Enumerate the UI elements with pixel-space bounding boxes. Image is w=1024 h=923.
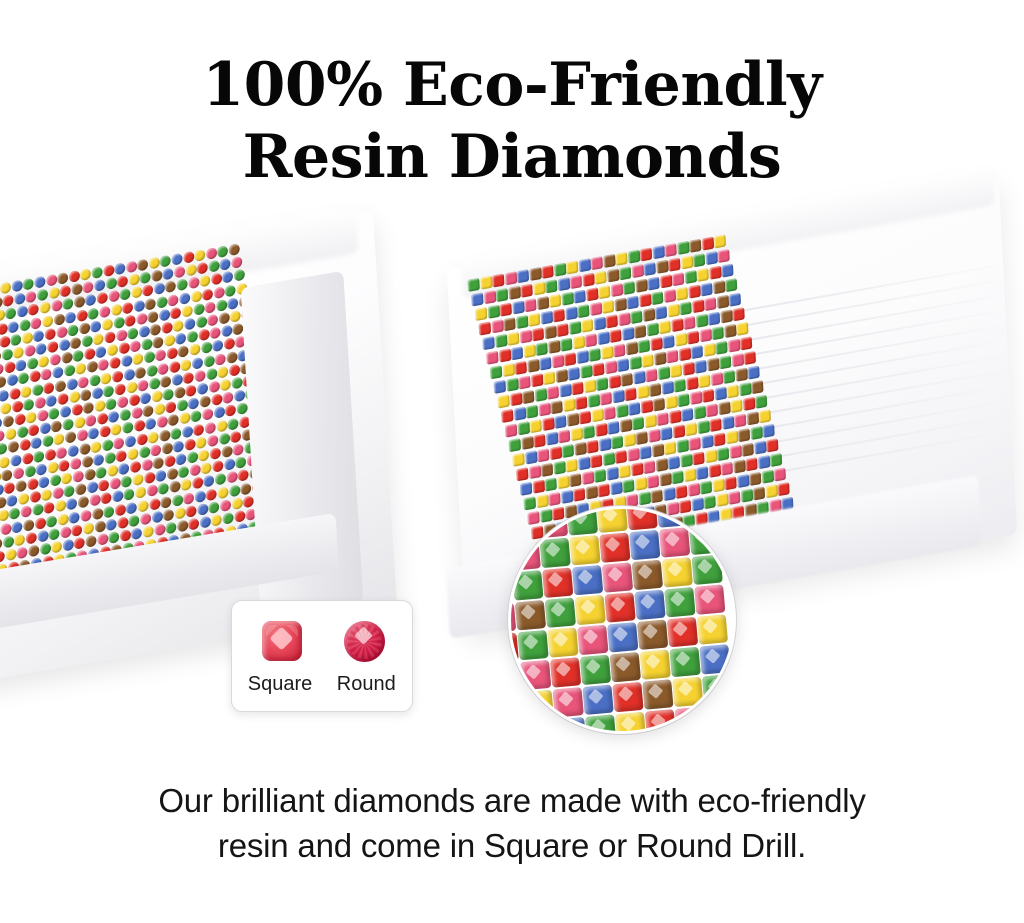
drill-bead [596,377,608,391]
drill-bead [187,331,198,344]
drill-bead [128,394,139,407]
drill-bead [721,462,733,476]
drill-bead [99,426,110,439]
drill-bead [88,427,99,440]
drill-bead [705,704,736,734]
drill-bead [529,267,541,281]
drill-bead [211,273,222,286]
drill-bead [528,465,540,479]
drill-bead [163,388,174,401]
drill-bead [543,371,555,385]
drill-bead [664,441,676,455]
drill-bead [538,402,550,416]
drill-bead [132,473,143,486]
drill-bead [217,486,228,499]
drill-bead [170,427,181,440]
drill-bead [234,510,245,523]
drill-bead [517,630,548,660]
drill-bead [659,527,690,557]
drill-bead [128,514,139,527]
drill-bead [661,381,673,395]
drill-bead [169,481,180,494]
drill-bead [695,314,707,328]
drill-bead [631,264,643,278]
drill-bead [125,435,136,448]
drill-bead [591,408,603,422]
drill-bead [93,333,104,346]
drill-bead [159,308,170,321]
drill-bead [37,409,48,422]
drill-bead [517,421,529,435]
drill-bead [505,423,517,437]
drill-bead [17,426,28,439]
drill-bead [631,462,643,476]
drill-bead [643,460,655,474]
drill-bead [184,318,195,331]
drill-bead [635,279,647,293]
drill-bead [667,303,679,317]
drill-bead [1,469,12,482]
drill-bead [567,367,579,381]
drill-bead [158,362,169,375]
drill-bead [240,482,251,495]
drill-bead [104,331,115,344]
drill-bead [595,423,607,437]
drill-bead [197,382,208,395]
drill-bead [696,466,708,480]
drill-bead [177,279,188,292]
drill-bead [124,314,135,327]
drill-bead [539,538,570,568]
drill-bead [737,474,749,488]
drill-bead [46,394,57,407]
drill-bead [89,494,100,507]
drill-bead [754,441,766,455]
drill-bead [673,379,685,393]
drill-bead [611,435,623,449]
drill-bead [609,329,621,343]
drill-bead [759,409,771,423]
drill-bead [516,467,528,481]
drill-bead [564,352,576,366]
drill-bead [16,306,27,319]
drill-bead [627,250,639,264]
drill-bead [520,482,532,496]
drill-bead [746,411,758,425]
drill-bead [108,411,119,424]
drill-bead [720,309,732,323]
drill-bead [184,438,195,451]
drill-bead [669,410,681,424]
drill-bead [79,442,90,455]
drill-bead [586,440,598,454]
drill-bead [533,281,545,295]
drill-bead [585,485,597,499]
drill-bead [17,546,28,559]
drill-bead [666,349,678,363]
drill-bead [770,453,782,467]
drill-bead [682,362,694,376]
drill-bead [613,343,625,357]
drill-bead [724,324,736,338]
drill-bead [594,469,606,483]
drill-bead [75,363,86,376]
drill-bead [692,555,723,585]
drill-bead [168,294,179,307]
drill-bead [713,432,725,446]
drill-bead [649,383,661,397]
drill-bead [135,486,146,499]
drill-bead [0,335,10,348]
drill-bead [238,469,249,482]
drill-bead [160,496,171,509]
drill-bead [214,406,225,419]
drill-bead [231,256,242,269]
drill-bead [5,307,16,320]
drill-bead [665,395,677,409]
drill-bead [121,475,132,488]
drill-bead [147,310,158,323]
drill-bead [578,456,590,470]
drill-bead [132,353,143,366]
drill-bead [570,427,582,441]
drill-bead [29,370,40,383]
drill-bead [604,592,635,622]
drill-bead [67,324,78,337]
drill-bead [131,527,142,540]
drill-bead [585,333,597,347]
drill-bead [691,345,703,359]
drill-bead [30,317,41,330]
drill-bead [11,400,22,413]
drill-bead [212,340,223,353]
drill-bead [567,506,598,536]
drill-bead [642,679,673,709]
drill-bead [227,297,238,310]
drill-bead [27,357,38,370]
drill-bead [84,348,95,361]
drill-bead [728,339,740,353]
drill-bead [0,550,5,563]
drill-bead [166,347,177,360]
drill-bead [81,455,92,468]
drill-bead [570,275,582,289]
drill-bead [519,330,531,344]
drill-bead [211,393,222,406]
drill-bead [663,487,675,501]
drill-bead [25,411,36,424]
drill-bead [231,497,242,510]
drill-bead [597,506,628,533]
drill-bead [0,509,9,522]
drill-bead [118,462,129,475]
drill-bead [138,325,149,338]
drill-bead [108,290,119,303]
drill-bead [53,313,64,326]
drill-bead [751,380,763,394]
drill-bead [15,359,26,372]
drill-bead [512,570,543,600]
drill-bead [566,413,578,427]
drill-bead [668,258,680,272]
drill-bead [714,387,726,401]
drill-bead [0,389,9,402]
drill-bead [660,274,672,288]
drill-bead [14,533,25,546]
drill-bead [622,479,634,493]
drill-bead [572,335,584,349]
drill-bead [645,368,657,382]
drill-bead [658,320,670,334]
drill-bead [491,319,503,333]
drill-bead [136,433,147,446]
drill-bead [551,354,563,368]
drill-bead [714,234,726,248]
drill-bead [225,284,236,297]
drill-bead [219,432,230,445]
drill-bead [114,262,125,275]
drill-bead [627,448,639,462]
drill-bead [676,439,688,453]
drill-bead [58,339,69,352]
drill-bead [486,351,498,365]
drill-bead [33,330,44,343]
drill-bead [137,259,148,272]
drill-bead [556,323,568,337]
drill-bead [230,430,241,443]
drill-bead [693,253,705,267]
drill-bead [62,539,73,552]
drill-bead [651,443,663,457]
drill-bead [560,338,572,352]
drill-bead [626,506,657,530]
drill-bead [133,299,144,312]
drill-bead [126,260,137,273]
drill-bead [587,394,599,408]
drill-bead [137,499,148,512]
drill-bead [548,492,560,506]
drill-bead [640,649,671,679]
drill-bead [687,483,699,497]
drill-bead [0,350,1,363]
drill-bead [131,407,142,420]
drill-bead [549,446,561,460]
drill-bead [189,464,200,477]
drill-bead [187,451,198,464]
drill-bead [734,414,746,428]
drill-bead [589,302,601,316]
drill-bead [650,489,662,503]
drill-bead [202,408,213,421]
drill-bead [203,355,214,368]
drill-bead [516,315,528,329]
drill-bead [640,247,652,261]
drill-bead [19,439,30,452]
drill-bead [600,392,612,406]
drill-bead [131,286,142,299]
drill-bead [554,415,566,429]
drill-bead [123,488,134,501]
legend-icons [232,615,414,667]
drill-bead [181,479,192,492]
drill-bead [179,412,190,425]
drill-bead [226,351,237,364]
drill-bead [508,722,527,734]
drill-bead [738,428,750,442]
drill-bead [207,434,218,447]
drill-bead [497,394,509,408]
drill-bead [626,295,638,309]
drill-bead [523,690,554,720]
drill-bead [193,303,204,316]
drill-bead [539,357,551,371]
drill-bead [216,299,227,312]
drill-bead [46,515,57,528]
drill-bead [0,282,11,295]
drill-bead [137,379,148,392]
drill-bead [602,562,633,592]
drill-bead [532,480,544,494]
round-drill-tray [0,246,388,646]
drill-bead [707,357,719,371]
drill-bead [80,268,91,281]
drill-bead [555,717,586,734]
drill-bead [94,400,105,413]
drill-bead [479,321,491,335]
drill-bead [586,287,598,301]
drill-bead [169,360,180,373]
drill-bead [222,391,233,404]
drill-bead [632,560,663,590]
drill-bead [550,400,562,414]
drill-bead [144,351,155,364]
drill-bead [189,343,200,356]
drill-bead [531,373,543,387]
zoom-detail-circle [508,506,736,734]
caption-line-1: Our brilliant diamonds are made with eco… [0,778,1024,823]
drill-bead [38,476,49,489]
drill-bead [558,429,570,443]
drill-bead [20,385,31,398]
drill-bead [192,356,203,369]
drill-bead [236,403,247,416]
drill-bead [156,296,167,309]
drill-bead [749,472,761,486]
drill-bead [762,424,774,438]
drill-bead [597,331,609,345]
drill-bead [107,464,118,477]
drill-bead [114,383,125,396]
drill-bead [656,412,668,426]
drill-bead [655,458,667,472]
drill-bead [615,252,627,266]
drill-bead [76,429,87,442]
drill-bead [716,295,728,309]
drill-bead [28,544,39,557]
drill-bead [57,392,68,405]
drill-bead [708,312,720,326]
drill-bead [667,617,698,647]
drill-bead [51,300,62,313]
drill-bead [582,425,594,439]
drill-bead [705,251,717,265]
drill-bead [72,350,83,363]
drill-bead [612,389,624,403]
drill-bead [553,687,584,717]
drill-bead [34,396,45,409]
drill-bead [56,446,67,459]
drill-bead [233,443,244,456]
drill-bead [32,504,43,517]
drill-bead [56,326,67,339]
drill-bead [112,370,123,383]
drill-bead [745,457,757,471]
drill-bead [604,360,616,374]
drill-bead [739,382,751,396]
caption-line-2: resin and come in Square or Round Drill. [0,823,1024,868]
drill-bead [651,291,663,305]
drill-bead [225,404,236,417]
drill-bead [163,509,174,522]
drill-bead [104,451,115,464]
drill-bead [14,293,25,306]
drill-bead [533,434,545,448]
drill-bead [603,406,615,420]
drill-bead [118,342,129,355]
drill-bead [97,413,108,426]
drill-bead [606,467,618,481]
drill-bead [165,281,176,294]
drill-bead [675,485,687,499]
drill-bead [98,359,109,372]
drill-bead [569,321,581,335]
drill-bead [164,334,175,347]
drill-bead [191,290,202,303]
drill-bead [742,397,754,411]
drill-bead [175,332,186,345]
drill-bead [91,266,102,279]
drill-bead [515,600,546,630]
drill-bead [229,364,240,377]
drill-bead [716,493,728,507]
drill-bead [74,416,85,429]
drill-bead [229,243,240,256]
drill-bead [165,401,176,414]
drill-bead [581,319,593,333]
drill-bead [127,448,138,461]
drill-bead [146,364,157,377]
drill-shape-legend: Square Round [231,600,413,712]
drill-bead [687,330,699,344]
drill-bead [102,438,113,451]
drill-bead [735,368,747,382]
drill-bead [6,374,17,387]
drill-bead [160,255,171,268]
drill-bead [496,288,508,302]
drill-bead [747,366,759,380]
drill-bead [222,512,233,525]
drill-bead [642,308,654,322]
drill-bead [750,426,762,440]
legend-label-square: Square [248,673,313,696]
drill-bead [47,341,58,354]
drill-bead [544,477,556,491]
drill-bead [227,417,238,430]
drill-bead [111,424,122,437]
drill-bead [701,237,713,251]
drill-bead [643,262,655,276]
drill-bead [139,446,150,459]
